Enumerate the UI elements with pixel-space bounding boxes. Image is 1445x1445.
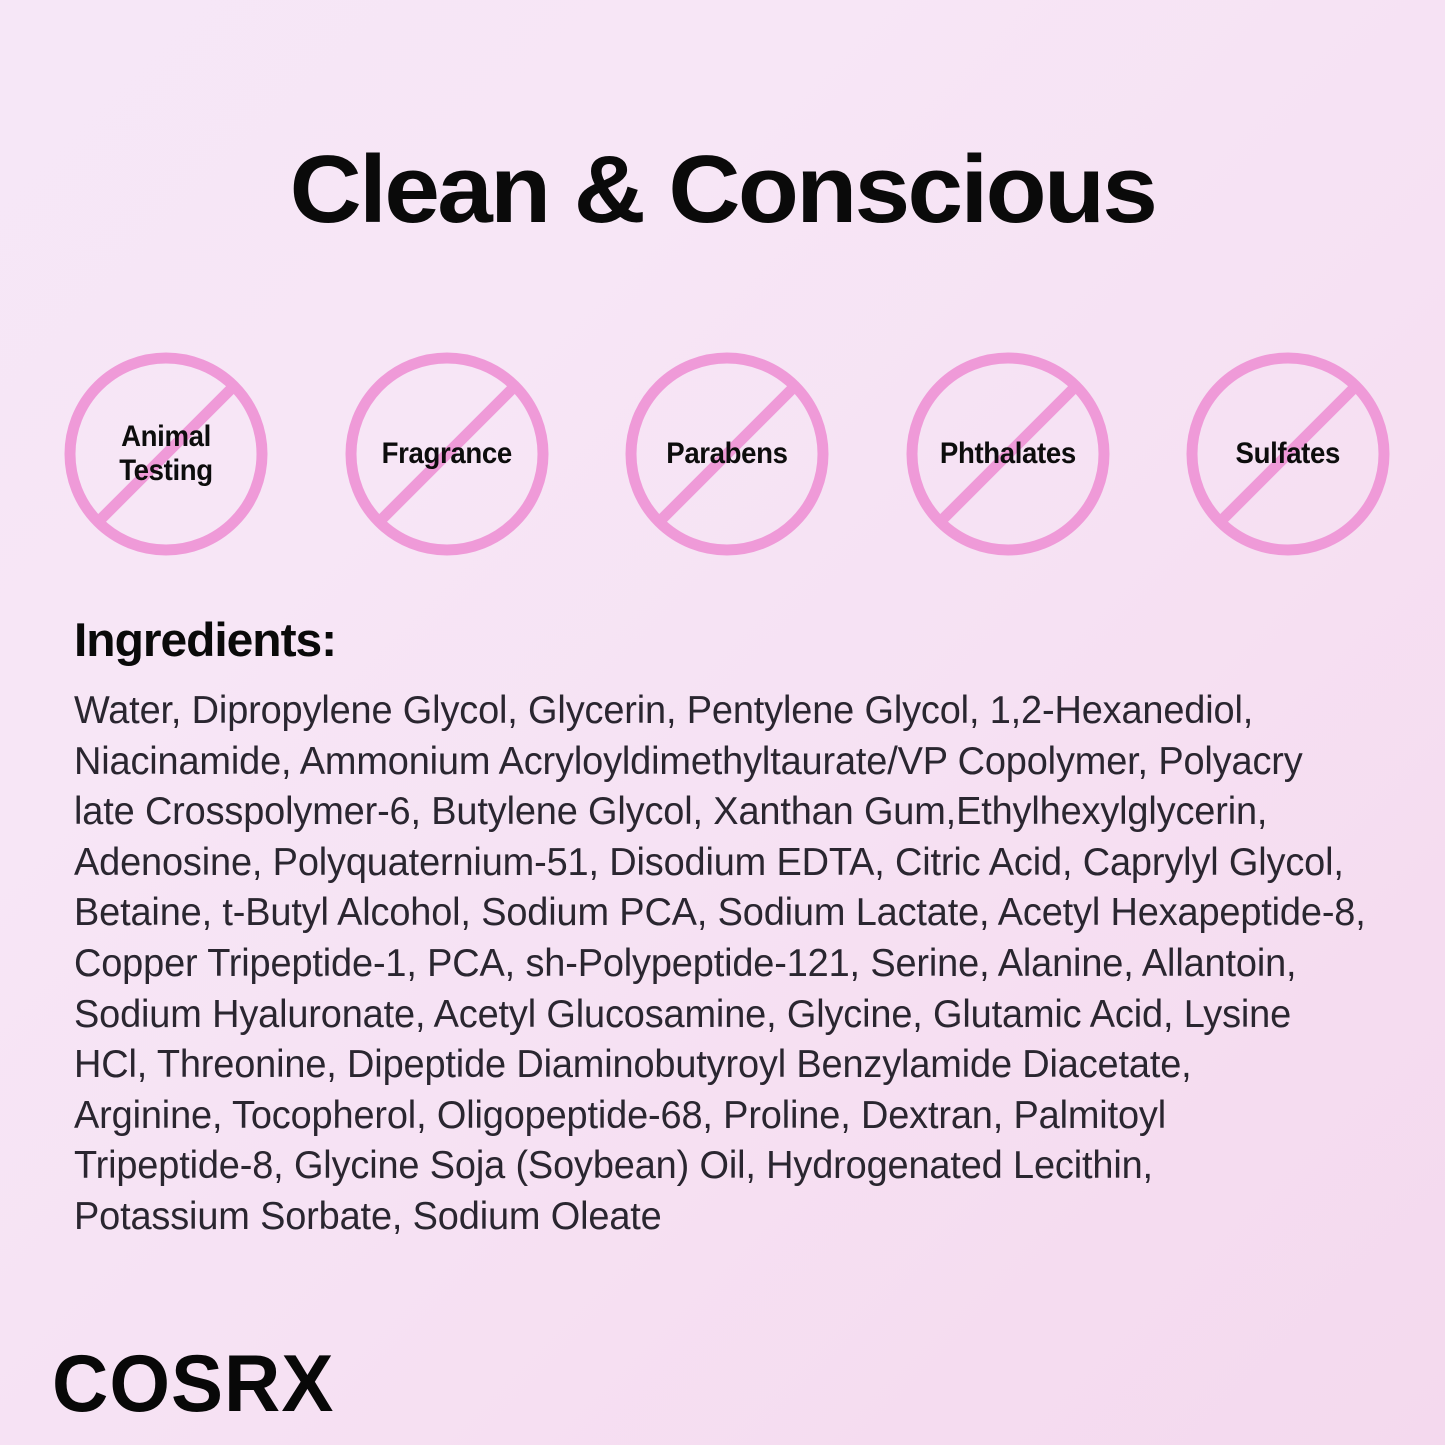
badge-parabens: Parabens	[623, 350, 831, 558]
ingredients-line: Sodium Hyaluronate, Acetyl Glucosamine, …	[74, 990, 1364, 1041]
free-from-badge-row: AnimalTesting Fragrance Parabens Phthala…	[62, 348, 1392, 560]
badge-label-fragrance: Fragrance	[381, 437, 511, 471]
page-title: Clean & Conscious	[0, 140, 1445, 241]
badge-fragrance: Fragrance	[343, 350, 551, 558]
ingredients-text: Water, Dipropylene Glycol, Glycerin, Pen…	[74, 686, 1364, 1243]
ingredients-line: Copper Tripeptide-1, PCA, sh-Polypeptide…	[74, 939, 1364, 990]
brand-logo: COSRX	[52, 1337, 334, 1431]
ingredients-line: HCl, Threonine, Dipeptide Diaminobutyroy…	[74, 1040, 1364, 1091]
ingredients-line: Niacinamide, Ammonium Acryloyldimethylta…	[74, 737, 1364, 788]
ingredients-line: Tripeptide-8, Glycine Soja (Soybean) Oil…	[74, 1141, 1364, 1192]
badge-label-parabens: Parabens	[666, 437, 787, 471]
badge-label-line: Testing	[119, 454, 213, 487]
ingredients-line: Arginine, Tocopherol, Oligopeptide-68, P…	[74, 1091, 1364, 1142]
ingredients-line: late Crosspolymer-6, Butylene Glycol, Xa…	[74, 787, 1364, 838]
badge-phthalates: Phthalates	[904, 350, 1112, 558]
ingredients-line: Adenosine, Polyquaternium-51, Disodium E…	[74, 838, 1364, 889]
badge-sulfates: Sulfates	[1184, 350, 1392, 558]
badge-label-phthalates: Phthalates	[940, 437, 1076, 471]
ingredients-line: Water, Dipropylene Glycol, Glycerin, Pen…	[74, 686, 1364, 737]
badge-label-line: Animal	[121, 420, 211, 453]
ingredients-line: Betaine, t-Butyl Alcohol, Sodium PCA, So…	[74, 888, 1364, 939]
ingredients-line: Potassium Sorbate, Sodium Oleate	[74, 1192, 1364, 1243]
product-info-card: Clean & Conscious AnimalTesting Fragranc…	[0, 0, 1445, 1445]
badge-label-animal-testing: AnimalTesting	[83, 420, 249, 487]
badge-animal-testing: AnimalTesting	[62, 350, 270, 558]
badge-label-sulfates: Sulfates	[1236, 437, 1340, 471]
ingredients-heading: Ingredients:	[74, 612, 336, 667]
